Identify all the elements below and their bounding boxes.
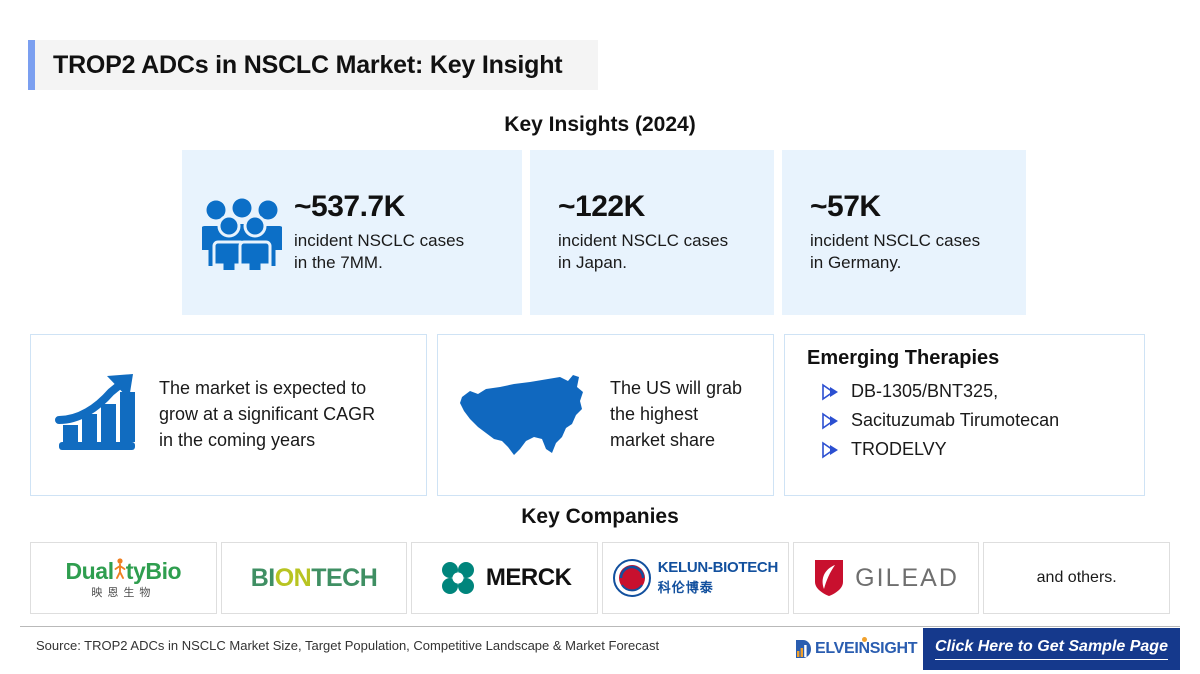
- gilead-shield-icon: [813, 558, 845, 598]
- source-citation: Source: TROP2 ADCs in NSCLC Market Size,…: [36, 638, 659, 653]
- delveinsight-dot: [862, 637, 867, 642]
- merck-logo: MERCK: [438, 558, 572, 598]
- delveinsight-logo: ELVEINSIGHT: [793, 638, 917, 660]
- key-companies-heading: Key Companies: [0, 505, 1200, 529]
- kelun-name-cn: 科伦博泰: [658, 577, 778, 596]
- dualitybio-word-a: Dual: [65, 560, 113, 583]
- merck-clover-icon: [438, 558, 478, 598]
- stat-value: ~537.7K: [294, 190, 464, 225]
- stat-body: ~57K incident NSCLC cases in Germany.: [804, 190, 980, 274]
- dualitybio-word-b: tyBio: [126, 560, 182, 583]
- therapy-label: TRODELVY: [847, 439, 947, 460]
- people-group-icon: [196, 196, 288, 270]
- company-logo-kelun-biotech: KELUN-BIOTECH 科伦博泰: [602, 542, 789, 614]
- company-logo-and-others: and others.: [983, 542, 1170, 614]
- company-logo-row: Dual tyBio 映恩生物 BIONTECH: [30, 542, 1170, 614]
- gilead-wordmark: GILEAD: [855, 564, 959, 593]
- infographic-page: TROP2 ADCs in NSCLC Market: Key Insight …: [0, 0, 1200, 674]
- therapy-list-item: DB-1305/BNT325,: [821, 381, 998, 402]
- stat-value: ~122K: [558, 190, 728, 225]
- dualitybio-logo: Dual tyBio 映恩生物: [65, 557, 181, 599]
- stat-body: ~122K incident NSCLC cases in Japan.: [552, 190, 728, 274]
- market-cagr-card: The market is expected to grow at a sign…: [30, 334, 427, 496]
- stat-description: incident NSCLC cases in the 7MM.: [294, 230, 464, 275]
- us-market-share-text: The US will grab the highest market shar…: [596, 376, 742, 453]
- kelun-emblem-icon: [613, 559, 651, 597]
- therapy-label: Sacituzumab Tirumotecan: [847, 410, 1059, 431]
- therapy-list-item: Sacituzumab Tirumotecan: [821, 410, 1059, 431]
- double-chevron-icon: [821, 441, 847, 459]
- key-insights-card-row: ~537.7K incident NSCLC cases in the 7MM.…: [182, 150, 1018, 315]
- biontech-part-a: BI: [251, 564, 275, 592]
- kelun-name-en: KELUN-BIOTECH: [658, 560, 778, 577]
- company-logo-dualitybio: Dual tyBio 映恩生物: [30, 542, 217, 614]
- stat-description: incident NSCLC cases in Japan.: [558, 230, 728, 275]
- get-sample-page-button[interactable]: Click Here to Get Sample Page: [923, 628, 1180, 670]
- delveinsight-wordmark: ELVEINSIGHT: [815, 640, 917, 658]
- stat-description: incident NSCLC cases in Germany.: [810, 230, 980, 275]
- emerging-therapies-title: Emerging Therapies: [807, 347, 999, 370]
- gilead-logo: GILEAD: [813, 558, 959, 598]
- therapy-label: DB-1305/BNT325,: [847, 381, 998, 402]
- and-others-label: and others.: [1037, 569, 1117, 587]
- usa-map-icon: [456, 367, 596, 463]
- stat-body: ~537.7K incident NSCLC cases in the 7MM.: [288, 190, 464, 274]
- merck-wordmark: MERCK: [486, 564, 572, 592]
- biontech-wordmark: BIONTECH: [251, 564, 378, 593]
- double-chevron-icon: [821, 383, 847, 401]
- key-insights-heading: Key Insights (2024): [0, 113, 1200, 137]
- kelun-logo: KELUN-BIOTECH 科伦博泰: [613, 559, 778, 597]
- kelun-wordmark: KELUN-BIOTECH 科伦博泰: [658, 560, 778, 596]
- biontech-part-c: TECH: [311, 564, 377, 592]
- us-market-share-card: The US will grab the highest market shar…: [437, 334, 774, 496]
- page-title-bar: TROP2 ADCs in NSCLC Market: Key Insight: [28, 40, 598, 90]
- therapy-list-item: TRODELVY: [821, 439, 947, 460]
- company-logo-biontech: BIONTECH: [221, 542, 408, 614]
- footer-divider: [20, 626, 1180, 627]
- emerging-therapies-card: Emerging Therapies DB-1305/BNT325,: [784, 334, 1145, 496]
- title-accent-bar: [28, 40, 35, 90]
- delveinsight-name: ELVEINSIGHT: [815, 640, 917, 657]
- biontech-part-b: ON: [275, 564, 312, 592]
- market-cagr-text: The market is expected to grow at a sign…: [145, 376, 375, 453]
- stat-card-japan: ~122K incident NSCLC cases in Japan.: [530, 150, 774, 315]
- company-logo-gilead: GILEAD: [793, 542, 980, 614]
- stat-card-germany: ~57K incident NSCLC cases in Germany.: [782, 150, 1026, 315]
- double-chevron-icon: [821, 412, 847, 430]
- stat-card-7mm: ~537.7K incident NSCLC cases in the 7MM.: [182, 150, 522, 315]
- delveinsight-mark-icon: [793, 638, 813, 660]
- cta-label: Click Here to Get Sample Page: [935, 638, 1168, 660]
- dualitybio-person-glyph: [114, 557, 126, 579]
- growth-bar-chart-arrow-icon: [49, 370, 145, 460]
- dualitybio-chinese-name: 映恩生物: [65, 588, 181, 599]
- stat-value: ~57K: [810, 190, 980, 225]
- page-title: TROP2 ADCs in NSCLC Market: Key Insight: [35, 51, 562, 80]
- company-logo-merck: MERCK: [411, 542, 598, 614]
- feature-card-row: The market is expected to grow at a sign…: [30, 334, 1170, 496]
- dualitybio-wordmark: Dual tyBio: [65, 557, 181, 583]
